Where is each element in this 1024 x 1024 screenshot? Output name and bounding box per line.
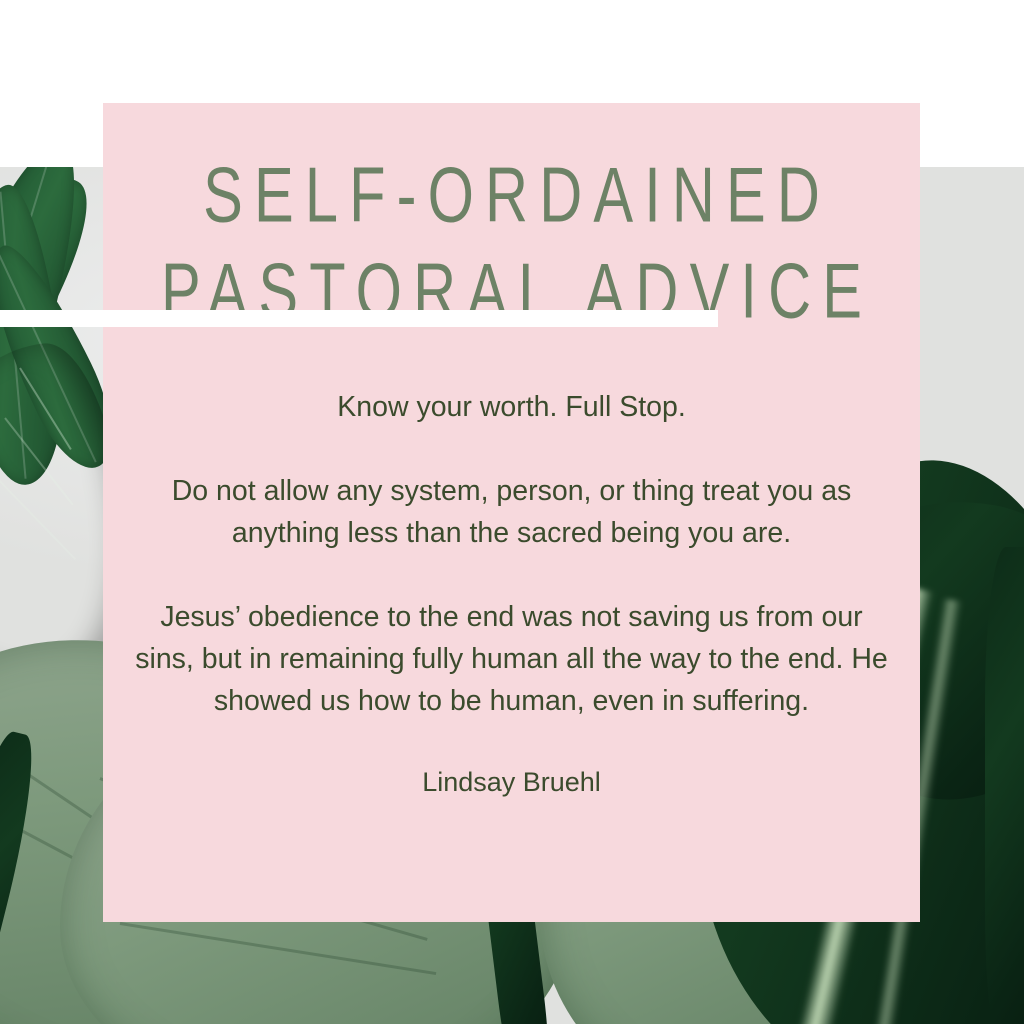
quote-paragraph-3: Jesus’ obedience to the end was not savi…	[133, 596, 890, 722]
title-line-2: PASTORAL ADVICE	[132, 232, 892, 349]
title-block: SELF-ORDAINED PASTORAL ADVICE	[103, 136, 920, 328]
quote-paragraph-1: Know your worth. Full Stop.	[133, 386, 890, 428]
quote-body: Know your worth. Full Stop. Do not allow…	[133, 386, 890, 802]
title-divider-rule	[0, 310, 718, 327]
quote-graphic: SELF-ORDAINED PASTORAL ADVICE Know your …	[0, 0, 1024, 1024]
paragraph-spacer	[133, 554, 890, 596]
quote-paragraph-2: Do not allow any system, person, or thin…	[133, 470, 890, 554]
leaf-dark-edge-right	[985, 547, 1024, 1024]
author-spacer	[133, 722, 890, 762]
quote-author: Lindsay Bruehl	[133, 762, 890, 802]
paragraph-spacer	[133, 428, 890, 470]
quote-card: SELF-ORDAINED PASTORAL ADVICE Know your …	[103, 103, 920, 922]
